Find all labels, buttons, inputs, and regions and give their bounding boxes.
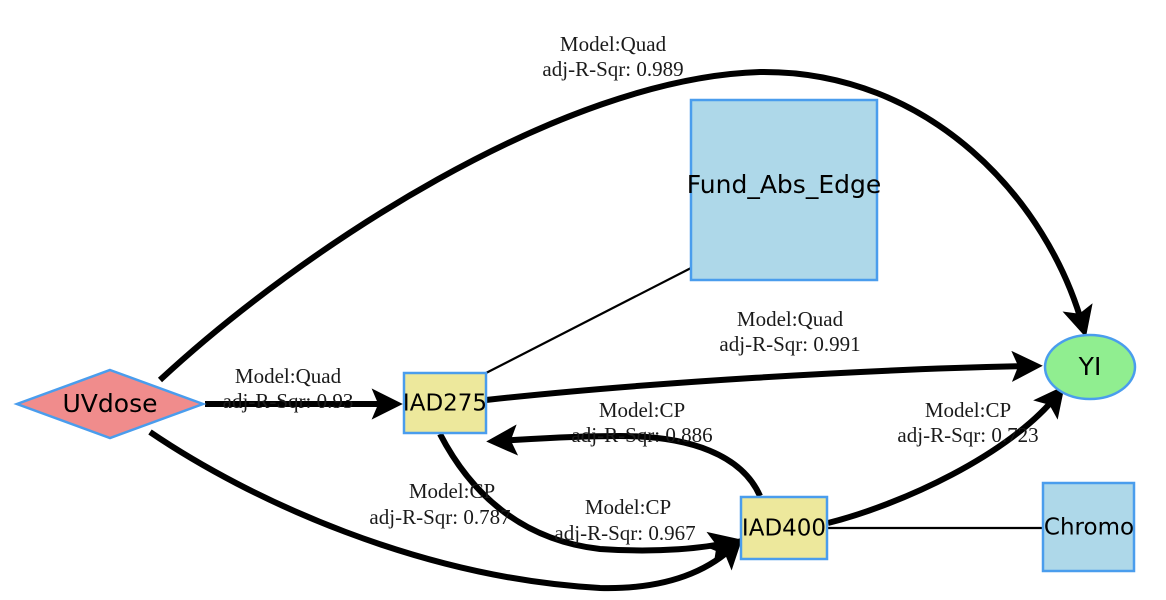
edge-label-stat: adj-R-Sqr: 0.93 <box>223 389 354 413</box>
graph-svg: Model:Quad adj-R-Sqr: 0.989 Model:Quad a… <box>0 0 1166 600</box>
node-iad400[interactable]: IAD400 <box>741 497 827 559</box>
edge-fund-abs-edge-iad275[interactable] <box>486 268 691 373</box>
node-uvdose[interactable]: UVdose <box>17 370 203 438</box>
node-yi-label: YI <box>1078 352 1102 381</box>
edge-label-stat: adj-R-Sqr: 0.787 <box>369 505 510 529</box>
edge-label-stat: adj-R-Sqr: 0.989 <box>542 57 683 81</box>
node-fund-abs-edge[interactable]: Fund_Abs_Edge <box>687 100 881 280</box>
edge-label-stat: adj-R-Sqr: 0.991 <box>719 332 860 356</box>
edge-label-model: Model:CP <box>409 479 495 503</box>
edge-label-iad400-iad275: Model:CP adj-R-Sqr: 0.886 <box>571 398 712 447</box>
node-yi[interactable]: YI <box>1045 335 1135 399</box>
edge-iad275-yi[interactable] <box>486 366 1032 400</box>
node-fund-abs-edge-label: Fund_Abs_Edge <box>687 170 881 199</box>
node-chromo-label: Chromo <box>1044 515 1134 541</box>
edge-label-stat: adj-R-Sqr: 0.886 <box>571 423 712 447</box>
node-chromo[interactable]: Chromo <box>1043 483 1134 571</box>
node-uvdose-label: UVdose <box>63 389 158 418</box>
node-iad400-label: IAD400 <box>742 516 826 542</box>
edge-label-model: Model:Quad <box>235 364 342 388</box>
node-iad275-label: IAD275 <box>403 391 487 417</box>
edge-label-iad275-yi: Model:Quad adj-R-Sqr: 0.991 <box>719 307 860 356</box>
node-iad275[interactable]: IAD275 <box>403 373 487 433</box>
edge-label-stat: adj-R-Sqr: 0.967 <box>554 521 695 545</box>
edge-label-model: Model:CP <box>925 398 1011 422</box>
edge-uvdose-yi[interactable] <box>160 72 1083 380</box>
edge-label-uvdose-yi: Model:Quad adj-R-Sqr: 0.989 <box>542 32 683 81</box>
edge-label-uvdose-iad275: Model:Quad adj-R-Sqr: 0.93 <box>223 364 354 413</box>
edge-label-model: Model:Quad <box>737 307 844 331</box>
edge-label-iad275-iad400: Model:CP adj-R-Sqr: 0.967 <box>554 495 695 545</box>
edge-label-model: Model:Quad <box>560 32 667 56</box>
diagram-canvas: Model:Quad adj-R-Sqr: 0.989 Model:Quad a… <box>0 0 1166 600</box>
nodes-layer: UVdose IAD275 Fund_Abs_Edge IAD400 Chrom… <box>17 100 1135 571</box>
edge-label-model: Model:CP <box>599 398 685 422</box>
edge-label-iad400-yi: Model:CP adj-R-Sqr: 0.723 <box>897 398 1038 447</box>
edge-label-model: Model:CP <box>585 495 671 519</box>
edge-label-stat: adj-R-Sqr: 0.723 <box>897 423 1038 447</box>
